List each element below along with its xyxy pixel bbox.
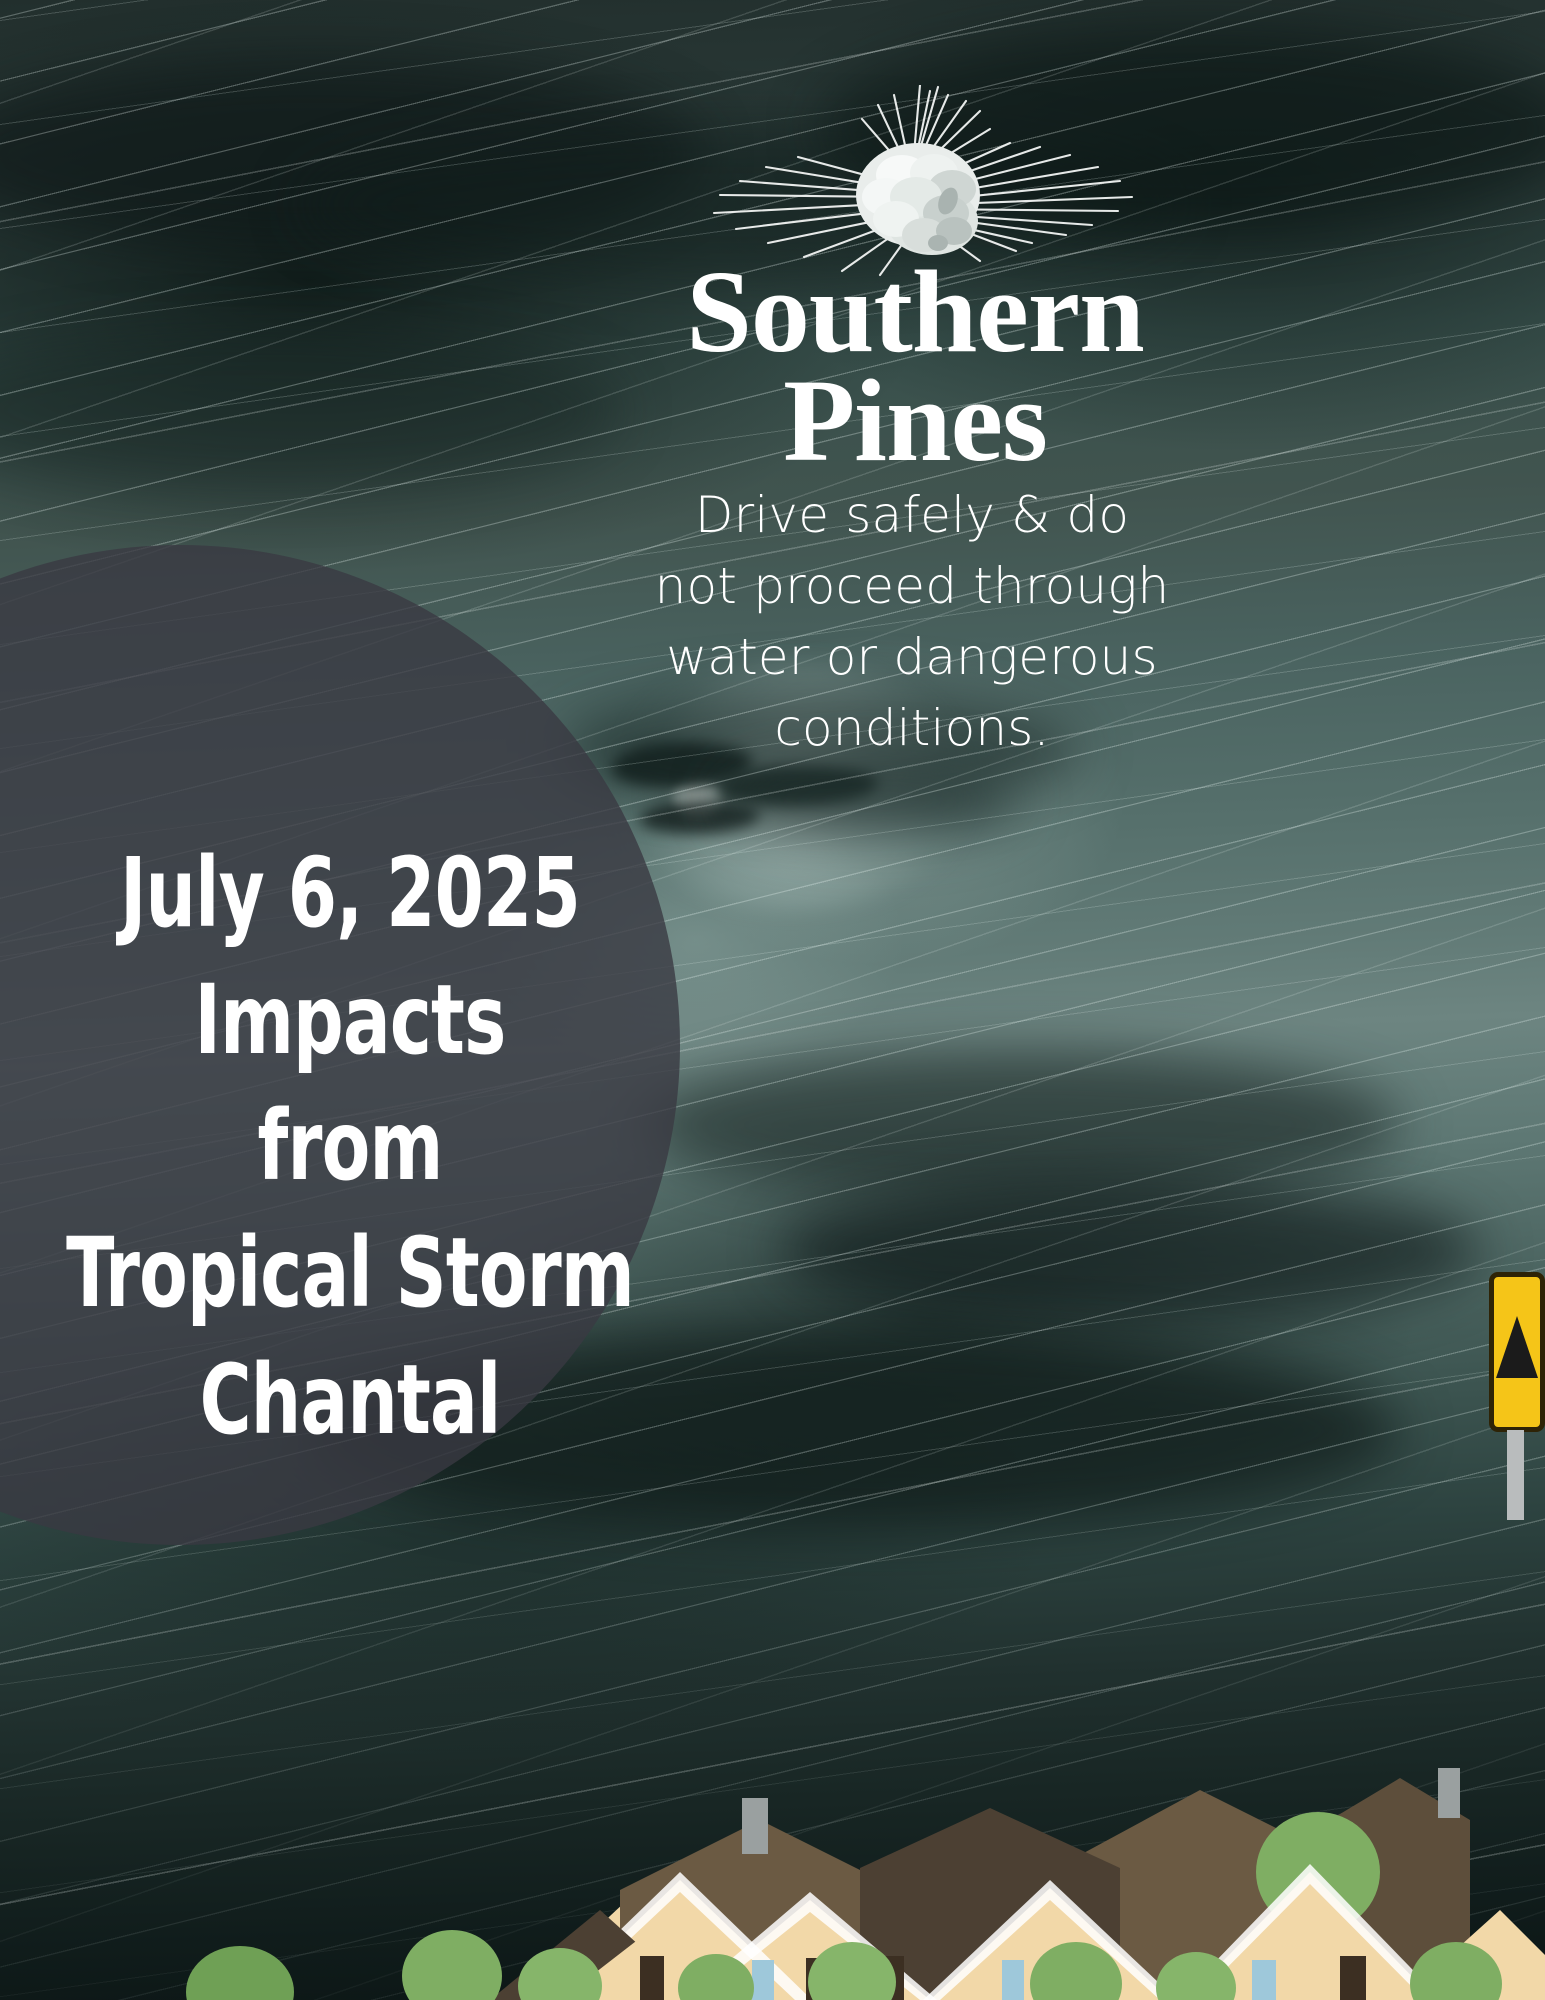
storm-advisory-poster: Southern Pines Drive safely & do not pro…: [0, 0, 1545, 2000]
tree-icon: [402, 1930, 502, 2000]
warning-triangle-sign-icon: [1489, 1272, 1545, 1432]
tree-icon: [186, 1946, 294, 2000]
pine-cone-svg: [680, 85, 1150, 280]
town-illustration: [0, 1760, 1545, 2000]
advisory-line: water or dangerous: [612, 622, 1212, 693]
sign-post: [1507, 1430, 1524, 1520]
advisory-text: Drive safely & do not proceed through wa…: [612, 480, 1212, 764]
headline-text: July 6, 2025 Impacts from Tropical Storm…: [63, 830, 637, 1464]
headline-line-storm-name: Chantal: [63, 1337, 637, 1464]
pine-cone-icon: [620, 85, 1210, 280]
headline-line-date: July 6, 2025: [63, 830, 637, 957]
brand-name-line-2: Pines: [620, 367, 1210, 476]
advisory-line: Drive safely & do: [612, 480, 1212, 551]
headline-line-from: from: [63, 1083, 637, 1210]
headline-line-impacts: Impacts: [63, 957, 637, 1084]
advisory-line: not proceed through: [612, 551, 1212, 622]
sign-triangle-symbol: [1496, 1316, 1538, 1378]
advisory-line: conditions.: [612, 693, 1212, 764]
headline-line-storm-type: Tropical Storm: [63, 1210, 637, 1337]
brand-logo: Southern Pines: [620, 85, 1210, 475]
